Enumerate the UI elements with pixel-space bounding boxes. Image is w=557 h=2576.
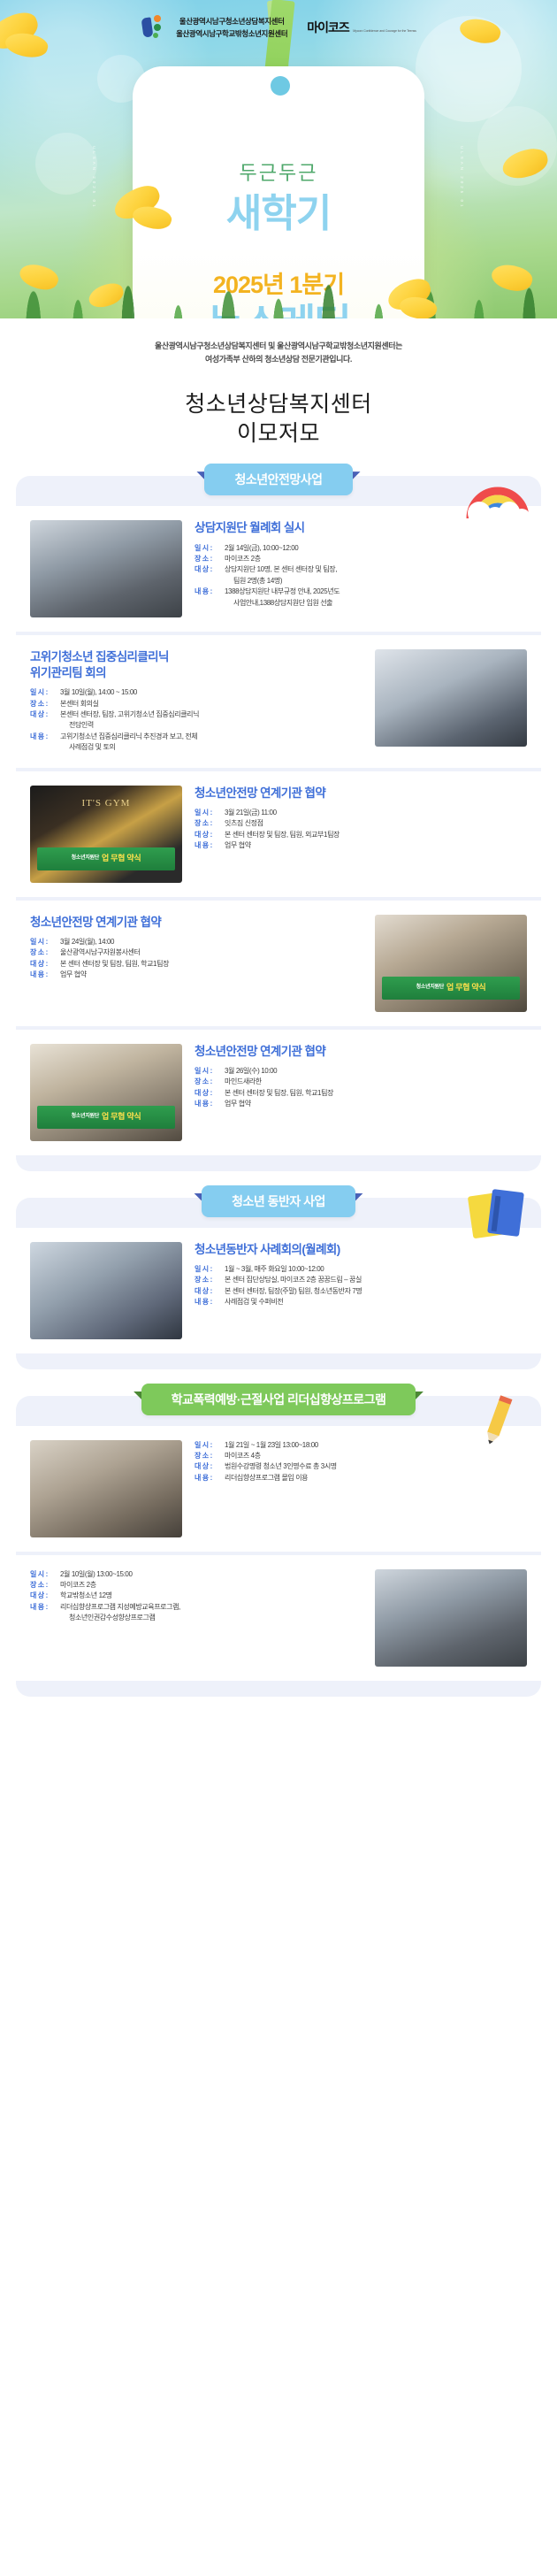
detail-value: 본 센터 센터장 및 팀장, 팀원, 학교1팀장 xyxy=(225,1088,527,1099)
section-body: 청소년안전망사업 상담지원단 월례회 실시 일 시 : 2월 14일(금), 1… xyxy=(16,476,541,1170)
card-photo xyxy=(30,520,182,617)
detail-row: 내 용 : 업무 협약 xyxy=(195,1099,527,1109)
detail-label: 일 시 : xyxy=(195,543,225,554)
detail-value: 3월 26일(수) 10:00 xyxy=(225,1066,527,1077)
detail-value: 업무 협약 xyxy=(60,970,362,980)
detail-row: 대 상 : 본 센터 센터장 및 팀장, 팀원, 학교1팀장 xyxy=(195,1088,527,1099)
detail-label: 일 시 : xyxy=(30,937,60,947)
detail-value: 본 센터 센터장 및 팀장, 팀원, 학교1팀장 xyxy=(60,959,362,970)
section-block: 학교폭력예방·근절사업 리더십향상프로그램 일 시 : 1월 21일 ~ 1월 … xyxy=(16,1396,541,1697)
content-card[interactable]: 일 시 : 1월 21일 ~ 1월 23일 13:00~18:00 장 소 : … xyxy=(16,1426,541,1552)
detail-label: 일 시 : xyxy=(195,1440,225,1451)
photo-banner: 청소년지원단업 무협 약식 xyxy=(37,1106,175,1129)
detail-label: 일 시 : xyxy=(30,1569,60,1580)
card-body: 청소년안전망 연계기관 협약 일 시 : 3월 21일(금) 11:00 장 소… xyxy=(195,786,527,852)
detail-row: 대 상 : 법원수강명령 청소년 3인명수료 총 3시명 xyxy=(195,1461,527,1472)
detail-value: 법원수강명령 청소년 3인명수료 총 3시명 xyxy=(225,1461,527,1472)
card-photo xyxy=(375,649,527,747)
card-photo: 청소년지원단업 무협 약식 xyxy=(30,1044,182,1141)
detail-label: 대 상 : xyxy=(195,1461,225,1472)
card-body: 일 시 : 2월 10일(월) 13:00~15:00 장 소 : 마이코즈 2… xyxy=(30,1569,362,1624)
detail-value: 상담지원단 10명, 본 센터 센터장 및 팀장,팀원 2명(총 14명) xyxy=(225,564,527,586)
content-card[interactable]: 청소년지원단업 무협 약식청소년안전망 연계기관 협약 일 시 : 3월 24일… xyxy=(16,897,541,1026)
section-tab[interactable]: 학교폭력예방·근절사업 리더십향상프로그램 xyxy=(141,1384,416,1415)
detail-value: 본 센터 집단상담실, 마이코즈 2층 꿈꿈드림 – 꿈실 xyxy=(225,1275,527,1285)
detail-value: 학교밖청소년 12명 xyxy=(60,1591,362,1601)
detail-value-continued: 팀원 2명(총 14명) xyxy=(225,576,527,586)
section-tab-wrap: 청소년 동반자 사업 xyxy=(16,1185,541,1217)
detail-value: 3월 21일(금) 11:00 xyxy=(225,808,527,818)
card-title: 고위기청소년 집중심리클리닉위기관리팀 회의 xyxy=(30,649,362,680)
detail-value: 2월 14일(금), 10:00~12:00 xyxy=(225,543,527,554)
card-body: 상담지원단 월례회 실시 일 시 : 2월 14일(금), 10:00~12:0… xyxy=(195,520,527,609)
detail-label: 내 용 : xyxy=(195,1099,225,1109)
detail-value: 본 센터 센터장, 팀장(주말) 팀원, 청소년동반자 7명 xyxy=(225,1286,527,1297)
hero-banner: 울산광역시남구청소년상담복지센터 울산광역시남구학교밖청소년지원센터 마이코즈 … xyxy=(0,0,557,318)
detail-label: 장 소 : xyxy=(195,1451,225,1461)
detail-row: 장 소 : 마이코즈 2층 xyxy=(30,1580,362,1591)
detail-row: 장 소 : 울산광역시남구자원봉사센터 xyxy=(30,947,362,958)
detail-row: 내 용 : 업무 협약 xyxy=(30,970,362,980)
detail-row: 장 소 : 본센터 회의실 xyxy=(30,699,362,709)
detail-row: 일 시 : 3월 21일(금) 11:00 xyxy=(195,808,527,818)
detail-label: 장 소 : xyxy=(30,699,60,709)
center-logos: 울산광역시남구청소년상담복지센터 울산광역시남구학교밖청소년지원센터 마이코즈 … xyxy=(0,14,557,45)
card-photo: IT'S GYM청소년지원단업 무협 약식 xyxy=(30,786,182,883)
page-title-line-2: 이모저모 xyxy=(35,419,522,449)
section-block: 청소년안전망사업 상담지원단 월례회 실시 일 시 : 2월 14일(금), 1… xyxy=(16,476,541,1170)
section-body: 학교폭력예방·근절사업 리더십향상프로그램 일 시 : 1월 21일 ~ 1월 … xyxy=(16,1396,541,1697)
card-title: 청소년동반자 사례회의(월례회) xyxy=(195,1242,527,1258)
mycorz-mark: 마이코즈 xyxy=(307,20,349,34)
detail-row: 내 용 : 리더십향상프로그램 지성예방교육프로그램,청소년인권감수성향상프로그… xyxy=(30,1602,362,1624)
detail-value-continued: 청소년인권감수성향상프로그램 xyxy=(60,1613,362,1623)
detail-value: 업무 협약 xyxy=(225,1099,527,1109)
detail-row: 장 소 : 마이코즈 4층 xyxy=(195,1451,527,1461)
detail-label: 내 용 : xyxy=(30,970,60,980)
detail-label: 장 소 : xyxy=(195,1275,225,1285)
card-body: 청소년동반자 사례회의(월례회) 일 시 : 1월 ~ 3월, 매주 화요일 1… xyxy=(195,1242,527,1308)
card-photo: 청소년지원단업 무협 약식 xyxy=(375,915,527,1012)
detail-row: 대 상 : 학교밖청소년 12명 xyxy=(30,1591,362,1601)
side-vertical-text: ULSAN 2025 01 xyxy=(92,146,96,210)
detail-row: 일 시 : 2월 10일(월) 13:00~15:00 xyxy=(30,1569,362,1580)
detail-value: 잇츠짐 신정점 xyxy=(225,818,527,829)
content-card[interactable]: 일 시 : 2월 10일(월) 13:00~15:00 장 소 : 마이코즈 2… xyxy=(16,1552,541,1681)
card-photo xyxy=(30,1440,182,1537)
detail-value: 본센터 센터장, 팀장, 고위기청소년 집중심리클리닉전담인력 xyxy=(60,709,362,732)
grass-decoration xyxy=(0,212,557,318)
detail-label: 대 상 : xyxy=(30,1591,60,1601)
detail-row: 대 상 : 본 센터 센터장 및 팀장, 팀원, 외교부1팀장 xyxy=(195,830,527,840)
detail-label: 대 상 : xyxy=(195,1286,225,1297)
mycorz-logo: 마이코즈 Mycorz Confidence and Courage for t… xyxy=(307,19,416,36)
detail-value: 사례점검 및 수퍼비전 xyxy=(225,1297,527,1307)
content-card[interactable]: 청소년지원단업 무협 약식청소년안전망 연계기관 협약 일 시 : 3월 26일… xyxy=(16,1026,541,1155)
intro-block: 울산광역시남구청소년상담복지센터 및 울산광역시남구학교밖청소년지원센터는 여성… xyxy=(0,318,557,449)
detail-label: 대 상 : xyxy=(195,1088,225,1099)
detail-value-continued: 사업안내,1388상담지원단 임원 선출 xyxy=(225,598,527,609)
detail-label: 일 시 : xyxy=(195,1264,225,1275)
detail-row: 일 시 : 3월 26일(수) 10:00 xyxy=(195,1066,527,1077)
detail-row: 내 용 : 사례점검 및 수퍼비전 xyxy=(195,1297,527,1307)
mycorz-subtitle: Mycorz Confidence and Courage for the Te… xyxy=(353,29,416,33)
detail-row: 대 상 : 본 센터 센터장, 팀장(주말) 팀원, 청소년동반자 7명 xyxy=(195,1286,527,1297)
intro-line-1: 울산광역시남구청소년상담복지센터 및 울산광역시남구학교밖청소년지원센터는 xyxy=(35,340,522,353)
detail-row: 장 소 : 마이코즈 2층 xyxy=(195,554,527,564)
detail-row: 내 용 : 고위기청소년 집중심리클리닉 추진경과 보고, 전체사례점검 및 토… xyxy=(30,732,362,754)
center-logo-icon xyxy=(141,14,167,41)
detail-row: 대 상 : 본 센터 센터장 및 팀장, 팀원, 학교1팀장 xyxy=(30,959,362,970)
detail-label: 내 용 : xyxy=(195,840,225,851)
detail-value: 2월 10일(월) 13:00~15:00 xyxy=(60,1569,362,1580)
detail-label: 장 소 : xyxy=(195,554,225,564)
detail-label: 장 소 : xyxy=(195,818,225,829)
detail-value: 마이코즈 4층 xyxy=(225,1451,527,1461)
card-title: 청소년안전망 연계기관 협약 xyxy=(195,786,527,801)
photo-banner: 청소년지원단업 무협 약식 xyxy=(382,977,520,1000)
detail-value: 1388상담지원단 내부규정 안내, 2025년도사업안내,1388상담지원단 … xyxy=(225,586,527,609)
detail-value: 3월 10일(월), 14:00 ~ 15:00 xyxy=(60,687,362,698)
detail-value-continued: 전담인력 xyxy=(60,720,362,731)
detail-row: 일 시 : 2월 14일(금), 10:00~12:00 xyxy=(195,543,527,554)
detail-label: 일 시 : xyxy=(195,808,225,818)
detail-row: 대 상 : 본센터 센터장, 팀장, 고위기청소년 집중심리클리닉전담인력 xyxy=(30,709,362,732)
detail-row: 장 소 : 마인드새라한 xyxy=(195,1077,527,1087)
card-title: 청소년안전망 연계기관 협약 xyxy=(30,915,362,931)
section-tab[interactable]: 청소년 동반자 사업 xyxy=(202,1185,355,1217)
detail-label: 내 용 : xyxy=(30,1602,60,1624)
detail-row: 일 시 : 3월 10일(월), 14:00 ~ 15:00 xyxy=(30,687,362,698)
detail-label: 일 시 : xyxy=(30,687,60,698)
card-title: 청소년안전망 연계기관 협약 xyxy=(195,1044,527,1060)
photo-overlay-text: IT'S GYM xyxy=(30,798,182,809)
detail-value: 3월 24일(월), 14:00 xyxy=(60,937,362,947)
side-vertical-text: ULSAN 2025 01 xyxy=(460,146,464,210)
page-title: 청소년상담복지센터 이모저모 xyxy=(35,390,522,450)
card-body: 청소년안전망 연계기관 협약 일 시 : 3월 24일(월), 14:00 장 … xyxy=(30,915,362,981)
logo-line-1: 울산광역시남구청소년상담복지센터 xyxy=(176,16,287,27)
detail-row: 내 용 : 리더십향상프로그램 몰입 이용 xyxy=(195,1473,527,1483)
detail-label: 내 용 : xyxy=(30,732,60,754)
detail-row: 내 용 : 업무 협약 xyxy=(195,840,527,851)
detail-value: 마이코즈 2층 xyxy=(60,1580,362,1591)
bottom-spacer xyxy=(0,1697,557,1720)
detail-row: 대 상 : 상담지원단 10명, 본 센터 센터장 및 팀장,팀원 2명(총 1… xyxy=(195,564,527,586)
detail-label: 장 소 : xyxy=(30,1580,60,1591)
detail-value: 마인드새라한 xyxy=(225,1077,527,1087)
page-title-line-1: 청소년상담복지센터 xyxy=(35,390,522,420)
detail-label: 장 소 : xyxy=(30,947,60,958)
content-card[interactable]: 상담지원단 월례회 실시 일 시 : 2월 14일(금), 10:00~12:0… xyxy=(16,506,541,632)
detail-label: 대 상 : xyxy=(30,709,60,732)
card-photo xyxy=(375,1569,527,1667)
detail-value: 울산광역시남구자원봉사센터 xyxy=(60,947,362,958)
photo-banner: 청소년지원단업 무협 약식 xyxy=(37,847,175,870)
detail-label: 대 상 : xyxy=(30,959,60,970)
card-body: 청소년안전망 연계기관 협약 일 시 : 3월 26일(수) 10:00 장 소… xyxy=(195,1044,527,1110)
intro-line-2: 여성가족부 산하의 청소년상담 전문기관입니다. xyxy=(35,353,522,366)
detail-label: 장 소 : xyxy=(195,1077,225,1087)
section-tab-wrap: 청소년안전망사업 xyxy=(16,464,541,495)
section-tab-wrap: 학교폭력예방·근절사업 리더십향상프로그램 xyxy=(16,1384,541,1415)
detail-label: 내 용 : xyxy=(195,1297,225,1307)
detail-row: 일 시 : 1월 ~ 3월, 매주 화요일 10:00~12:00 xyxy=(195,1264,527,1275)
detail-label: 내 용 : xyxy=(195,586,225,609)
card-photo xyxy=(30,1242,182,1339)
detail-value: 업무 협약 xyxy=(225,840,527,851)
content-card[interactable]: 청소년동반자 사례회의(월례회) 일 시 : 1월 ~ 3월, 매주 화요일 1… xyxy=(16,1228,541,1353)
detail-value: 1월 ~ 3월, 매주 화요일 10:00~12:00 xyxy=(225,1264,527,1275)
newsletter-page: 울산광역시남구청소년상담복지센터 울산광역시남구학교밖청소년지원센터 마이코즈 … xyxy=(0,0,557,1720)
detail-value: 고위기청소년 집중심리클리닉 추진경과 보고, 전체사례점검 및 토의 xyxy=(60,732,362,754)
content-card[interactable]: IT'S GYM청소년지원단업 무협 약식청소년안전망 연계기관 협약 일 시 … xyxy=(16,768,541,897)
bokeh-decoration xyxy=(35,133,97,195)
detail-row: 일 시 : 3월 24일(월), 14:00 xyxy=(30,937,362,947)
detail-value: 본 센터 센터장 및 팀장, 팀원, 외교부1팀장 xyxy=(225,830,527,840)
detail-label: 대 상 : xyxy=(195,830,225,840)
content-card[interactable]: 고위기청소년 집중심리클리닉위기관리팀 회의 일 시 : 3월 10일(월), … xyxy=(16,632,541,767)
detail-value-continued: 사례점검 및 토의 xyxy=(60,742,362,753)
detail-value: 리더십향상프로그램 지성예방교육프로그램,청소년인권감수성향상프로그램 xyxy=(60,1602,362,1624)
section-body: 청소년 동반자 사업 청소년동반자 사례회의(월례회) 일 시 : 1월 ~ 3… xyxy=(16,1198,541,1369)
detail-row: 내 용 : 1388상담지원단 내부규정 안내, 2025년도사업안내,1388… xyxy=(195,586,527,609)
detail-label: 내 용 : xyxy=(195,1473,225,1483)
sections-container: 청소년안전망사업 상담지원단 월례회 실시 일 시 : 2월 14일(금), 1… xyxy=(0,476,557,1696)
logo-line-2: 울산광역시남구학교밖청소년지원센터 xyxy=(176,28,287,39)
detail-label: 대 상 : xyxy=(195,564,225,586)
detail-value: 마이코즈 2층 xyxy=(225,554,527,564)
section-block: 청소년 동반자 사업 청소년동반자 사례회의(월례회) 일 시 : 1월 ~ 3… xyxy=(16,1198,541,1369)
section-tab[interactable]: 청소년안전망사업 xyxy=(204,464,352,495)
detail-row: 장 소 : 본 센터 집단상담실, 마이코즈 2층 꿈꿈드림 – 꿈실 xyxy=(195,1275,527,1285)
detail-label: 일 시 : xyxy=(195,1066,225,1077)
hanger-dot-icon xyxy=(271,76,290,96)
detail-row: 장 소 : 잇츠짐 신정점 xyxy=(195,818,527,829)
detail-value: 본센터 회의실 xyxy=(60,699,362,709)
detail-value: 리더십향상프로그램 몰입 이용 xyxy=(225,1473,527,1483)
card-body: 고위기청소년 집중심리클리닉위기관리팀 회의 일 시 : 3월 10일(월), … xyxy=(30,649,362,753)
